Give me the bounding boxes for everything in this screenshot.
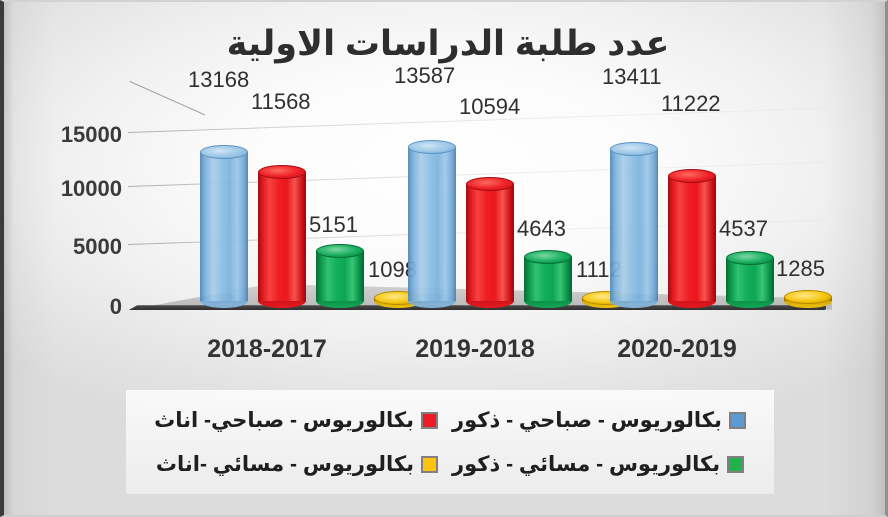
bar-green-2020-2019[interactable] [726, 251, 774, 308]
cylinder-body [200, 152, 248, 301]
value-label-yellow-2020-2019: 1285 [776, 258, 825, 280]
cylinder-body [316, 251, 364, 301]
value-label-red-2019-2018: 10594 [459, 96, 520, 118]
legend-swatch-green-icon [727, 456, 744, 473]
legend-row-evening: بكالوريوس - مسائي - ذكور بكالوريوس - مسا… [136, 442, 764, 486]
x-label-2019-2018: 2019-2018 [360, 335, 590, 364]
legend-item-evening-female[interactable]: بكالوريوس - مسائي -اناث [156, 452, 438, 477]
cylinder-red [258, 165, 306, 308]
cylinder-top [784, 290, 832, 304]
cylinder-top [258, 165, 306, 179]
bar-green-2019-2018[interactable] [524, 250, 572, 308]
legend-item-morning-female[interactable]: بكالوريوس - صباحي- اناث [154, 408, 438, 433]
cylinder-top [668, 169, 716, 183]
value-label-blue-2019-2018: 13587 [394, 65, 455, 87]
legend-row-morning: بكالوريوس - صباحي - ذكور بكالوريوس - صبا… [136, 398, 764, 442]
cylinder-blue [408, 140, 456, 308]
bar-group-2018-2017: 13168 11568 5151 [200, 122, 400, 308]
chart-container: عدد طلبة الدراسات الاولية 15000 10000 50… [0, 0, 888, 517]
page-title: عدد طلبة الدراسات الاولية [4, 24, 888, 64]
cylinder-yellow [784, 290, 832, 308]
cylinder-top [524, 250, 572, 264]
cylinder-body [408, 147, 456, 301]
legend: بكالوريوس - صباحي - ذكور بكالوريوس - صبا… [126, 390, 774, 494]
bar-yellow-2020-2019[interactable] [784, 290, 832, 308]
bar-blue-2018-2017[interactable] [200, 145, 248, 308]
bar-blue-2020-2019[interactable] [610, 142, 658, 308]
bar-red-2019-2018[interactable] [466, 177, 514, 308]
bar-red-2020-2019[interactable] [668, 169, 716, 308]
cylinder-body [466, 184, 514, 301]
y-tick-5000: 5000 [32, 236, 122, 258]
x-label-2020-2019: 2020-2019 [562, 335, 792, 364]
legend-swatch-blue-icon [729, 412, 746, 429]
y-tick-0: 0 [32, 296, 122, 318]
cylinder-top [316, 244, 364, 258]
cylinder-red [466, 177, 514, 308]
cylinder-blue [200, 145, 248, 308]
legend-swatch-red-icon [421, 412, 438, 429]
value-label-green-2020-2019: 4537 [719, 218, 768, 240]
cylinder-top [610, 142, 658, 156]
legend-label-morning-female: بكالوريوس - صباحي- اناث [154, 408, 414, 433]
value-label-blue-2020-2019: 13411 [602, 66, 662, 88]
cylinder-body [668, 176, 716, 301]
bar-red-2018-2017[interactable] [258, 165, 306, 308]
bar-group-2020-2019: 13411 11222 4537 [610, 122, 810, 308]
cylinder-top [408, 140, 456, 154]
bar-green-2018-2017[interactable] [316, 244, 364, 308]
value-label-green-2019-2018: 4643 [517, 218, 566, 240]
legend-swatch-yellow-icon [421, 456, 438, 473]
value-label-blue-2018-2017: 13168 [188, 69, 249, 91]
x-axis-labels: 2018-2017 2019-2018 2020-2019 [4, 335, 888, 369]
cylinder-top [726, 251, 774, 265]
bar-group-2019-2018: 13587 10594 4643 [408, 122, 608, 308]
cylinder-blue [610, 142, 658, 308]
cylinder-top [466, 177, 514, 191]
cylinder-green [316, 244, 364, 308]
value-label-red-2020-2019: 11222 [661, 93, 721, 115]
y-tick-15000: 15000 [32, 124, 122, 146]
plot-area: 15000 10000 5000 0 13168 [4, 98, 888, 330]
x-label-2018-2017: 2018-2017 [152, 335, 382, 364]
legend-label-morning-male: بكالوريوس - صباحي - ذكور [452, 408, 722, 433]
cylinder-green [726, 251, 774, 308]
y-tick-10000: 10000 [32, 178, 122, 200]
legend-label-evening-male: بكالوريوس - مسائي - ذكور [452, 452, 720, 477]
cylinder-top [200, 145, 248, 159]
value-label-red-2018-2017: 11568 [251, 91, 311, 113]
cylinder-body [258, 172, 306, 301]
legend-label-evening-female: بكالوريوس - مسائي -اناث [156, 452, 414, 477]
bar-blue-2019-2018[interactable] [408, 140, 456, 308]
legend-item-morning-male[interactable]: بكالوريوس - صباحي - ذكور [452, 408, 746, 433]
legend-item-evening-male[interactable]: بكالوريوس - مسائي - ذكور [452, 452, 744, 477]
cylinder-green [524, 250, 572, 308]
cylinder-body [610, 149, 658, 301]
value-label-green-2018-2017: 5151 [309, 214, 358, 236]
cylinder-red [668, 169, 716, 308]
